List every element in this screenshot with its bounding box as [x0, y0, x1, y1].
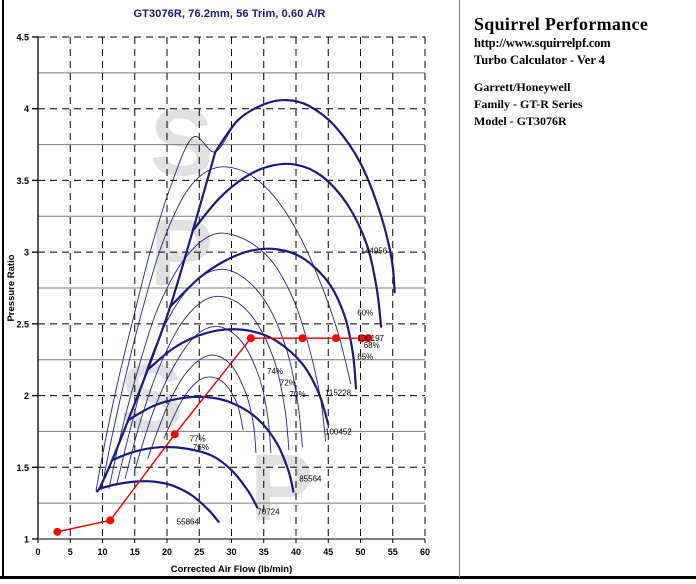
efficiency-label: 68%: [364, 341, 380, 350]
x-tick-label: 30: [226, 547, 236, 557]
y-axis-title: Pressure Ratio: [6, 254, 17, 321]
x-tick-label: 15: [130, 547, 140, 557]
speed-line-label: 144956: [361, 247, 388, 256]
speed-line-label: 100452: [325, 427, 352, 436]
y-tick-label: 3.5: [16, 176, 29, 186]
x-tick-label: 20: [162, 547, 172, 557]
operating-point-marker[interactable]: [247, 334, 255, 342]
speed-line: [112, 447, 257, 507]
efficiency-label: 72%: [280, 379, 296, 388]
x-tick-label: 60: [420, 547, 430, 557]
family-label: Family - GT-R Series: [474, 96, 688, 113]
operating-point-marker[interactable]: [332, 334, 340, 342]
y-tick-label: 1: [24, 535, 29, 545]
efficiency-label: 77%: [190, 434, 206, 443]
x-tick-label: 50: [355, 547, 365, 557]
operating-point-marker[interactable]: [53, 528, 61, 536]
efficiency-label: 76%: [193, 443, 209, 452]
y-tick-label: 2: [24, 391, 29, 401]
x-tick-label: 45: [323, 547, 333, 557]
compressor-map-chart: GT3076R, 76.2mm, 56 Trim, 0.60 A/R SPSP5…: [0, 0, 459, 576]
window-bottom-border: [0, 576, 696, 579]
brand-name: Squirrel Performance: [474, 14, 688, 34]
info-spacer: [474, 70, 688, 79]
y-tick-label: 4: [24, 104, 29, 114]
model-label: Model - GT3076R: [474, 113, 688, 130]
x-axis-title: Corrected Air Flow (lb/min): [171, 564, 293, 575]
speed-line: [99, 481, 218, 522]
efficiency-label: 60%: [357, 308, 373, 317]
efficiency-label: 74%: [267, 367, 283, 376]
speed-line-label: 70724: [257, 508, 280, 517]
y-tick-label: 3: [24, 248, 29, 258]
y-tick-label: 2.5: [16, 319, 29, 329]
x-tick-label: 35: [259, 547, 269, 557]
operating-point-marker[interactable]: [298, 334, 306, 342]
speed-line-label: 55864: [177, 518, 200, 527]
speed-line-label: 115228: [325, 389, 352, 398]
compressor-map-window: GT3076R, 76.2mm, 56 Trim, 0.60 A/R SPSP5…: [0, 0, 696, 584]
manufacturer-label: Garrett/Honeywell: [474, 79, 688, 96]
info-panel: Squirrel Performance http://www.squirrel…: [466, 0, 694, 576]
x-tick-label: 0: [35, 547, 40, 557]
calculator-version: Turbo Calculator - Ver 4: [474, 51, 688, 70]
x-tick-label: 10: [97, 547, 107, 557]
efficiency-label: 65%: [357, 353, 373, 362]
chart-svg: SPSP558647072485564100452115228130197144…: [0, 0, 459, 576]
x-tick-label: 55: [388, 547, 398, 557]
operating-point-marker[interactable]: [106, 516, 114, 524]
y-tick-label: 4.5: [16, 33, 29, 43]
y-tick-label: 1.5: [16, 463, 29, 473]
website-url: http://www.squirrelpf.com: [474, 35, 688, 51]
panel-divider: [459, 0, 460, 577]
operating-point-marker[interactable]: [171, 430, 179, 438]
watermark-group: SPSP: [120, 90, 313, 541]
efficiency-label: 70%: [290, 390, 306, 399]
x-tick-label: 40: [291, 547, 301, 557]
x-tick-label: 25: [194, 547, 204, 557]
x-tick-label: 5: [68, 547, 73, 557]
speed-line-label: 85564: [299, 475, 322, 484]
speed-line: [193, 164, 381, 327]
speed-line: [215, 100, 394, 292]
